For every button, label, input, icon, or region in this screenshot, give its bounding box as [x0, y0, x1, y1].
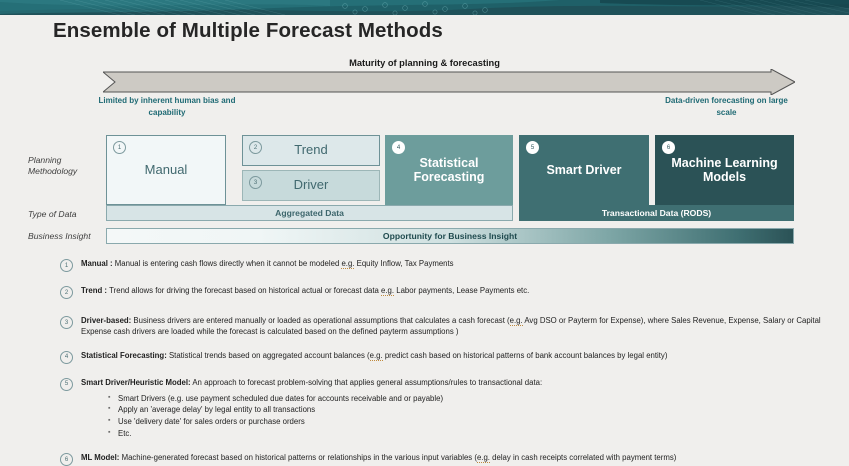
- footnote-text-4: Statistical Forecasting: Statistical tre…: [81, 350, 849, 361]
- footnote-body2-4: predict cash based on historical pattern…: [383, 351, 668, 360]
- method-box-machine-learning-models-label: Machine Learning Models: [656, 156, 793, 184]
- footnote-list: 1 Manual : Manual is entering cash flows…: [60, 258, 849, 466]
- footnote-eg-2: e.g.: [381, 286, 394, 296]
- footnote-eg-6: e.g.: [477, 453, 490, 463]
- footnote-item: 5 Smart Driver/Heuristic Model: An appro…: [60, 377, 849, 439]
- data-bar-transactional: Transactional Data (RODS): [519, 205, 794, 221]
- footnote-text-1: Manual : Manual is entering cash flows d…: [81, 258, 849, 269]
- footnote-badge-3: 3: [60, 316, 73, 329]
- footnote-body1-1: Manual is entering cash flows directly w…: [115, 259, 342, 268]
- badge-5: 5: [526, 141, 539, 154]
- data-bar-business-insight: Opportunity for Business Insight: [106, 228, 794, 244]
- footnote-term-1: Manual :: [81, 259, 115, 268]
- data-bar-transactional-label: Transactional Data (RODS): [602, 208, 711, 218]
- method-box-driver[interactable]: 3 Driver: [242, 170, 380, 201]
- footnote-term-3: Driver-based:: [81, 316, 131, 325]
- footnote-body1-3: Business drivers are entered manually or…: [131, 316, 509, 325]
- footnote-badge-4: 4: [60, 351, 73, 364]
- row-label-planning-line1: Planning: [28, 155, 61, 165]
- footnote-badge-6: 6: [60, 453, 73, 466]
- footnote-item: 3 Driver-based: Business drivers are ent…: [60, 315, 849, 338]
- badge-6: 6: [662, 141, 675, 154]
- footnote-body1-6: Machine-generated forecast based on hist…: [119, 453, 477, 462]
- row-label-type-of-data: Type of Data: [28, 209, 77, 220]
- data-bar-aggregated-label: Aggregated Data: [275, 208, 344, 218]
- footnote-text-3: Driver-based: Business drivers are enter…: [81, 315, 849, 338]
- badge-2: 2: [249, 141, 262, 154]
- method-box-smart-driver-label: Smart Driver: [540, 163, 627, 177]
- footnote-body2-6: delay in cash receipts correlated with p…: [490, 453, 676, 462]
- method-box-statistical-forecasting-label: Statistical Forecasting: [386, 156, 512, 184]
- footnote-badge-1: 1: [60, 259, 73, 272]
- footnote-text-2: Trend : Trend allows for driving the for…: [81, 285, 849, 296]
- method-box-manual-label: Manual: [139, 163, 194, 178]
- row-label-planning-methodology: Planning Methodology: [28, 155, 77, 177]
- footnote-eg-3: e.g.: [510, 316, 523, 326]
- arrow-right-label: Data-driven forecasting on large scale: [655, 95, 798, 118]
- footnote-body1-5: An approach to forecast problem-solving …: [191, 378, 543, 387]
- footnote-term-2: Trend :: [81, 286, 109, 295]
- method-box-smart-driver[interactable]: 5 Smart Driver: [519, 135, 649, 205]
- data-bar-business-insight-label: Opportunity for Business Insight: [383, 231, 517, 241]
- footnote-body2-1: Equity Inflow, Tax Payments: [354, 259, 453, 268]
- method-box-manual[interactable]: 1 Manual: [106, 135, 226, 205]
- footnote-5-bullet: Smart Drivers (e.g. use payment schedule…: [118, 393, 849, 405]
- footnote-badge-5: 5: [60, 378, 73, 391]
- footnote-item: 4 Statistical Forecasting: Statistical t…: [60, 350, 849, 364]
- footnote-body1-2: Trend allows for driving the forecast ba…: [109, 286, 381, 295]
- maturity-arrow: [103, 69, 795, 95]
- footnote-body2-2: Labor payments, Lease Payments etc.: [394, 286, 529, 295]
- footnote-5-bullet: Apply an 'average delay' by legal entity…: [118, 404, 849, 416]
- method-box-driver-label: Driver: [288, 178, 335, 193]
- footnote-term-6: ML Model:: [81, 453, 119, 462]
- footnote-eg-4: e.g.: [370, 351, 383, 361]
- method-box-machine-learning-models[interactable]: 6 Machine Learning Models: [655, 135, 794, 205]
- footnote-5-bullet: Etc.: [118, 428, 849, 440]
- method-box-statistical-forecasting[interactable]: 4 Statistical Forecasting: [385, 135, 513, 205]
- footnote-5-bullet: Use 'delivery date' for sales orders or …: [118, 416, 849, 428]
- page-title: Ensemble of Multiple Forecast Methods: [53, 19, 443, 43]
- method-box-trend[interactable]: 2 Trend: [242, 135, 380, 166]
- footnote-term-5: Smart Driver/Heuristic Model:: [81, 378, 191, 387]
- arrow-left-label: Limited by inherent human bias and capab…: [98, 95, 236, 118]
- footnote-item: 1 Manual : Manual is entering cash flows…: [60, 258, 849, 272]
- row-label-planning-line2: Methodology: [28, 166, 77, 176]
- row-label-business-insight: Business Insight: [28, 231, 91, 242]
- footnote-item: 2 Trend : Trend allows for driving the f…: [60, 285, 849, 299]
- footnote-body1-4: Statistical trends based on aggregated a…: [167, 351, 370, 360]
- badge-3: 3: [249, 176, 262, 189]
- footnote-5-bullets: Smart Drivers (e.g. use payment schedule…: [60, 393, 849, 439]
- footnote-text-5: Smart Driver/Heuristic Model: An approac…: [81, 377, 849, 388]
- arrow-caption: Maturity of planning & forecasting: [0, 58, 849, 68]
- footnote-eg-1: e.g.: [341, 259, 354, 269]
- footnote-term-4: Statistical Forecasting:: [81, 351, 167, 360]
- badge-1: 1: [113, 141, 126, 154]
- decorative-top-banner: [0, 0, 849, 15]
- slide-canvas: Ensemble of Multiple Forecast Methods Ma…: [0, 0, 849, 457]
- method-box-trend-label: Trend: [288, 143, 333, 158]
- footnote-badge-2: 2: [60, 286, 73, 299]
- badge-4: 4: [392, 141, 405, 154]
- footnote-text-6: ML Model: Machine-generated forecast bas…: [81, 452, 849, 463]
- footnote-item: 6 ML Model: Machine-generated forecast b…: [60, 452, 849, 466]
- data-bar-aggregated: Aggregated Data: [106, 205, 513, 221]
